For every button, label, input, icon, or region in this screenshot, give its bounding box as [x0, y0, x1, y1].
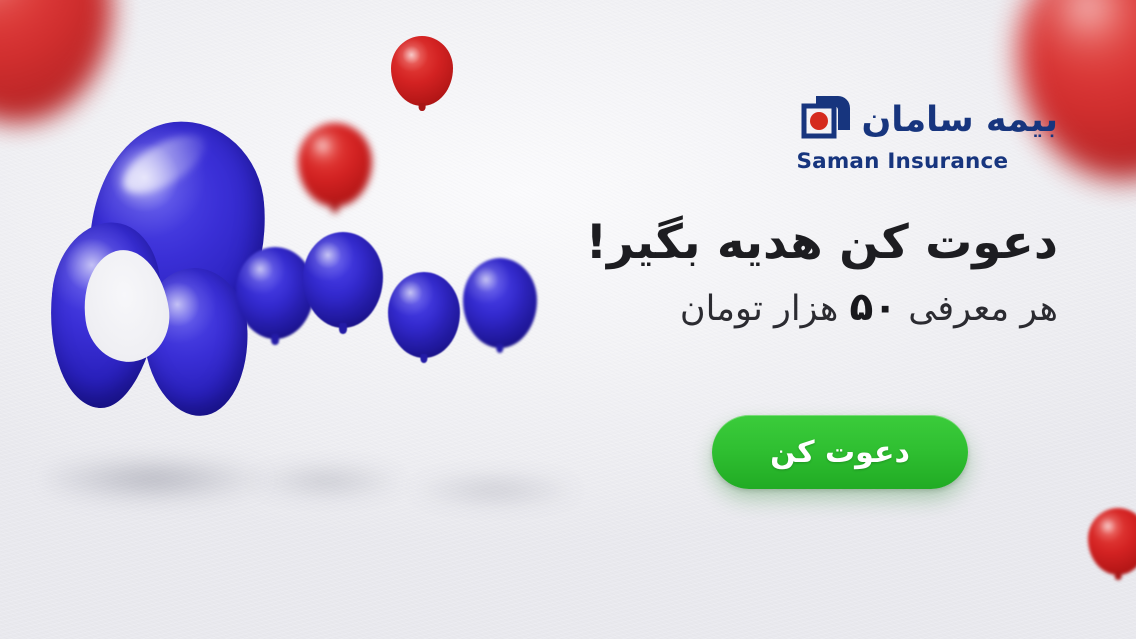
balloon-knot-icon: [419, 103, 426, 111]
balloon-knot-icon: [496, 344, 503, 354]
red-balloon-decor: [1088, 508, 1136, 575]
ground-shadow: [255, 468, 400, 494]
red-balloon-decor: [391, 36, 453, 106]
balloon-knot-icon: [271, 334, 279, 344]
blue-balloon-decor: [463, 258, 537, 348]
logo-wordmark-persian: بیمه سامان: [861, 103, 1058, 138]
blue-balloon-decor: [388, 272, 460, 358]
balloon-knot-icon: [420, 354, 427, 363]
balloon-letter-sculpture: [52, 126, 262, 411]
promo-headline: دعوت کن هدیه بگیر!: [578, 214, 1058, 271]
subheadline-suffix: هزار تومان: [680, 289, 838, 329]
subheadline-prefix: هر معرفی: [908, 289, 1058, 329]
balloon-knot-icon: [331, 203, 339, 213]
ground-shadow: [46, 460, 261, 498]
invite-cta-button[interactable]: دعوت کن: [712, 415, 968, 489]
blue-balloon-decor: [236, 247, 314, 339]
red-balloon-decor: [0, 0, 112, 123]
red-balloon-decor: [298, 123, 372, 207]
logo-row: بیمه سامان: [796, 92, 1058, 148]
balloon-knot-icon: [1115, 572, 1122, 580]
logo-tagline-english: Saman Insurance: [796, 151, 1008, 174]
promo-copy-block: دعوت کن هدیه بگیر! هر معرفی ۵۰ هزار توما…: [578, 214, 1058, 334]
ground-shadow: [415, 478, 575, 502]
saman-logo-mark-icon: [796, 92, 852, 148]
balloon-knot-icon: [339, 323, 347, 334]
saman-insurance-logo[interactable]: بیمه سامان Saman Insurance: [796, 92, 1058, 174]
blue-balloon-decor: [303, 232, 383, 328]
promo-subheadline: هر معرفی ۵۰ هزار تومان: [578, 283, 1058, 334]
referral-promo-banner: بیمه سامان Saman Insurance دعوت کن هدیه …: [0, 0, 1136, 639]
subheadline-amount: ۵۰: [850, 285, 898, 330]
